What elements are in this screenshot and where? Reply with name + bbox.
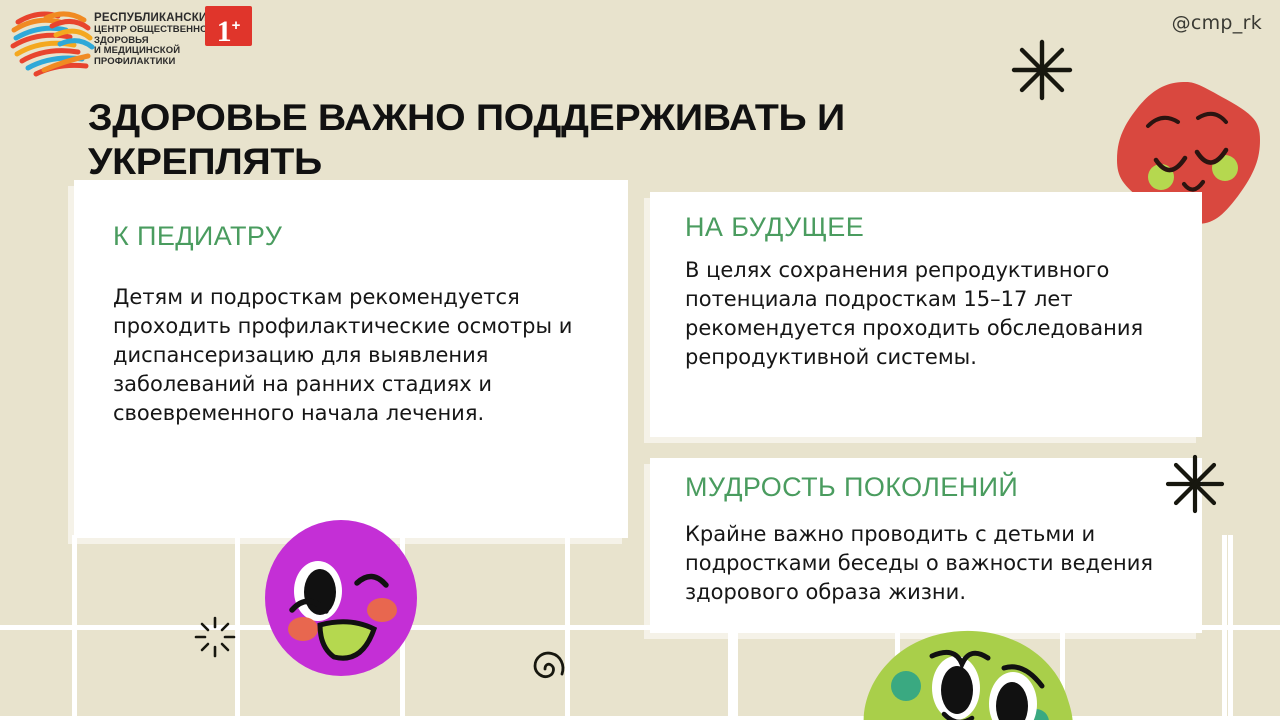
logo-badge-number: 1 [217, 15, 232, 48]
slide-root: РЕСПУБЛИКАНСКИЙ ЦЕНТР ОБЩЕСТВЕННОГО ЗДОР… [0, 0, 1280, 720]
spiral-icon [521, 645, 569, 693]
organization-logo: РЕСПУБЛИКАНСКИЙ ЦЕНТР ОБЩЕСТВЕННОГО ЗДОР… [8, 4, 258, 78]
card-body: Крайне важно проводить с детьми и подрос… [685, 520, 1180, 607]
winking-smile-face-icon [262, 519, 420, 677]
spiral [521, 645, 569, 697]
card-wisdom: МУДРОСТЬ ПОКОЛЕНИЙ Крайне важно проводит… [650, 458, 1202, 633]
card-heading: МУДРОСТЬ ПОКОЛЕНИЙ [685, 472, 1018, 503]
page-title: ЗДОРОВЬЕ ВАЖНО ПОДДЕРЖИВАТЬ И УКРЕПЛЯТЬ [88, 96, 1042, 183]
card-heading: К ПЕДИАТРУ [113, 221, 282, 252]
asterisk-star-right [1163, 452, 1227, 520]
small-burst-icon [193, 615, 237, 659]
card-body: В целях сохранения репродуктивного потен… [685, 256, 1180, 372]
card-pediatrician: К ПЕДИАТРУ Детям и подросткам рекомендуе… [74, 180, 628, 538]
logo-badge-plus: + [232, 17, 241, 34]
card-future: НА БУДУЩЕЕ В целях сохранения репродукти… [650, 192, 1202, 437]
eight-point-star-icon [1008, 36, 1076, 104]
card-body: Детям и подросткам рекомендуется проходи… [113, 283, 613, 428]
logo-line-3: И МЕДИЦИНСКОЙ ПРОФИЛАКТИКИ [94, 46, 259, 67]
eight-point-star-icon [1163, 452, 1227, 516]
wide-eyes-face-icon [858, 628, 1078, 720]
card-heading: НА БУДУЩЕЕ [685, 212, 864, 243]
sparkle-burst [193, 615, 237, 663]
social-handle: @cmp_rk [1172, 12, 1262, 34]
purple-circle-blob-face [262, 519, 420, 681]
green-blob-face [858, 628, 1078, 720]
scribble-heart-icon [8, 4, 98, 78]
logo-badge: 1+ [205, 6, 252, 46]
